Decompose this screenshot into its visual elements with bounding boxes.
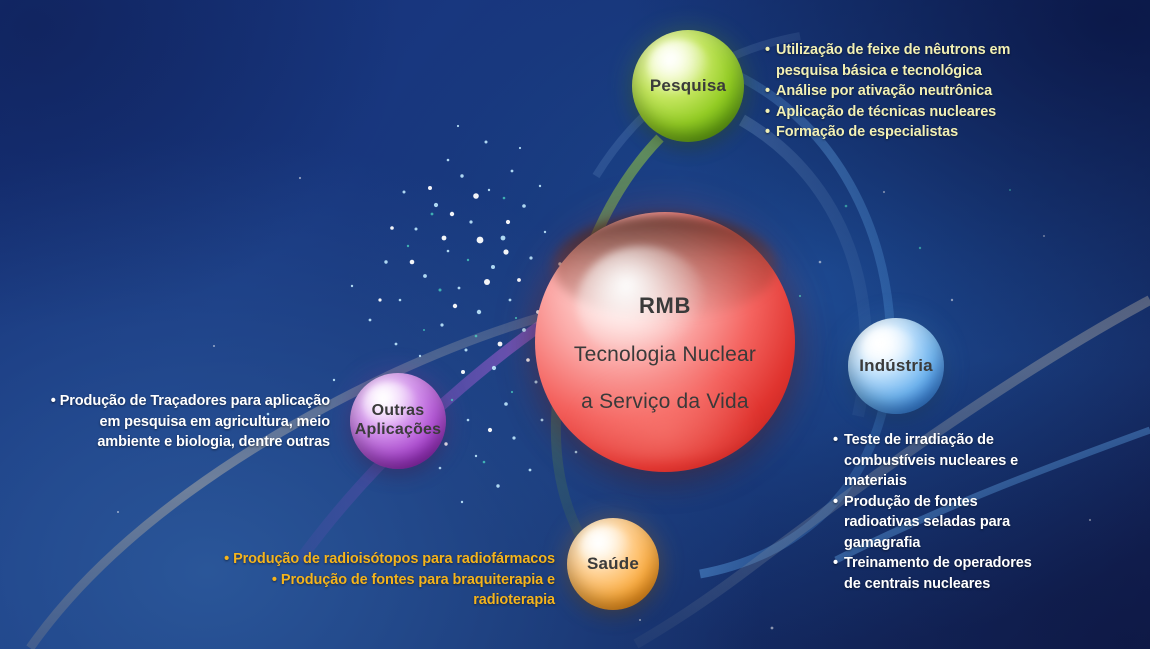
sphere-saude[interactable]: Saúde: [567, 518, 659, 610]
bullet-item: •Produção de radioisótopos para radiofár…: [195, 549, 555, 570]
text-block-industria: •Teste de irradiação de combustíveis nuc…: [833, 430, 1033, 595]
sphere-pesquisa[interactable]: Pesquisa: [632, 30, 744, 142]
bullet-item: •Aplicação de técnicas nucleares: [765, 102, 1015, 123]
bullet-glyph: •: [765, 40, 770, 61]
bullet-glyph: •: [224, 551, 229, 567]
central-sphere-rmb[interactable]: RMB Tecnologia Nuclear a Serviço da Vida: [535, 212, 795, 472]
sphere-saude-label: Saúde: [587, 554, 639, 573]
bullet-item: •Produção de Traçadores para aplicação e…: [45, 391, 330, 453]
bullet-glyph: •: [51, 393, 56, 409]
bullet-text: Utilização de feixe de nêutrons em pesqu…: [776, 42, 1010, 79]
bullet-item: •Utilização de feixe de nêutrons em pesq…: [765, 40, 1015, 81]
bullet-item: •Análise por ativação neutrônica: [765, 81, 1015, 102]
sphere-industria-label: Indústria: [859, 356, 933, 375]
bullet-item: •Produção de fontes radioativas seladas …: [833, 492, 1033, 554]
bullet-glyph: •: [272, 572, 277, 588]
bullet-glyph: •: [833, 430, 838, 451]
bullet-glyph: •: [765, 122, 770, 143]
pesquisa-bullet-list: •Utilização de feixe de nêutrons em pesq…: [765, 40, 1015, 143]
sphere-outras-label: Outras Aplicações: [355, 402, 441, 439]
bullet-text: Formação de especialistas: [776, 124, 958, 140]
core-line1: Tecnologia Nuclear: [574, 343, 756, 366]
sphere-outras-aplicacoes[interactable]: Outras Aplicações: [350, 373, 446, 469]
bullet-item: •Teste de irradiação de combustíveis nuc…: [833, 430, 1033, 492]
text-block-outras: •Produção de Traçadores para aplicação e…: [45, 391, 330, 453]
bullet-text: Treinamento de operadores de centrais nu…: [844, 555, 1032, 592]
bullet-item: •Formação de especialistas: [765, 122, 1015, 143]
saude-bullet-list: •Produção de radioisótopos para radiofár…: [195, 549, 555, 611]
bullet-glyph: •: [833, 553, 838, 574]
bullet-item: •Treinamento de operadores de centrais n…: [833, 553, 1033, 594]
bullet-text: Teste de irradiação de combustíveis nucl…: [844, 432, 1018, 489]
text-block-pesquisa: •Utilização de feixe de nêutrons em pesq…: [765, 40, 1015, 143]
central-sphere-label: RMB Tecnologia Nuclear a Serviço da Vida: [574, 270, 756, 413]
bullet-glyph: •: [833, 492, 838, 513]
outras-bullet-list: •Produção de Traçadores para aplicação e…: [45, 391, 330, 453]
bullet-item: •Produção de fontes para braquiterapia e…: [195, 570, 555, 611]
bullet-text: Aplicação de técnicas nucleares: [776, 104, 996, 120]
bullet-text: Produção de fontes para braquiterapia e …: [281, 572, 555, 609]
sphere-pesquisa-label: Pesquisa: [650, 76, 726, 95]
bullet-text: Produção de radioisótopos para radiofárm…: [233, 551, 555, 567]
bullet-text: Análise por ativação neutrônica: [776, 83, 992, 99]
infographic-canvas: RMB Tecnologia Nuclear a Serviço da Vida…: [0, 0, 1150, 649]
bullet-glyph: •: [765, 81, 770, 102]
bullet-glyph: •: [765, 102, 770, 123]
text-block-saude: •Produção de radioisótopos para radiofár…: [195, 549, 555, 611]
industria-bullet-list: •Teste de irradiação de combustíveis nuc…: [833, 430, 1033, 595]
sphere-industria[interactable]: Indústria: [848, 318, 944, 414]
core-line2: a Serviço da Vida: [581, 390, 749, 413]
bullet-text: Produção de fontes radioativas seladas p…: [844, 494, 1010, 551]
core-acronym: RMB: [574, 294, 756, 319]
bullet-text: Produção de Traçadores para aplicação em…: [60, 393, 330, 450]
